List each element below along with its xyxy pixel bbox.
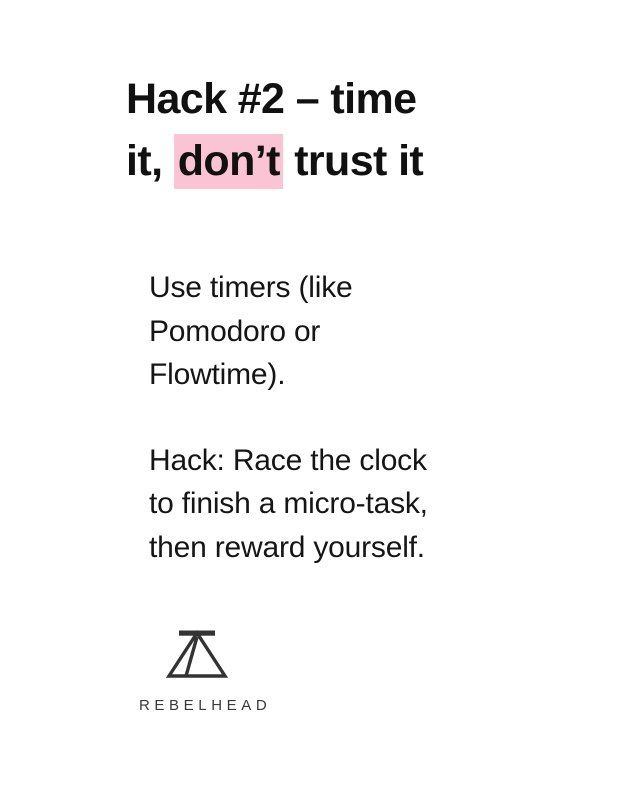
- paragraph-line: then reward yourself.: [149, 526, 509, 570]
- rebelhead-triangle-logo-icon: [165, 628, 339, 685]
- headline-highlight: don’t: [174, 134, 283, 189]
- paragraph-line: Pomodoro or: [149, 310, 509, 354]
- headline-line-2-suffix: trust it: [283, 137, 423, 185]
- paragraph-timers: Use timers (like Pomodoro or Flowtime).: [149, 266, 509, 397]
- headline-line-1: Hack #2 – time: [126, 68, 546, 130]
- paragraph-line: Flowtime).: [149, 353, 509, 397]
- page-title: Hack #2 – time it, don’t trust it: [126, 68, 546, 192]
- paragraph-line: Hack: Race the clock: [149, 439, 509, 483]
- brand-lockup: REBELHEAD: [139, 628, 339, 714]
- paragraph-line: to finish a micro-task,: [149, 482, 509, 526]
- paragraph-line: Use timers (like: [149, 266, 509, 310]
- headline-line-2: it, don’t trust it: [126, 130, 546, 192]
- body-copy: Use timers (like Pomodoro or Flowtime). …: [149, 266, 509, 569]
- hack-card: Hack #2 – time it, don’t trust it Use ti…: [0, 0, 640, 799]
- brand-name: REBELHEAD: [139, 697, 339, 714]
- headline-line-2-prefix: it,: [126, 137, 174, 185]
- paragraph-hack: Hack: Race the clock to finish a micro-t…: [149, 439, 509, 570]
